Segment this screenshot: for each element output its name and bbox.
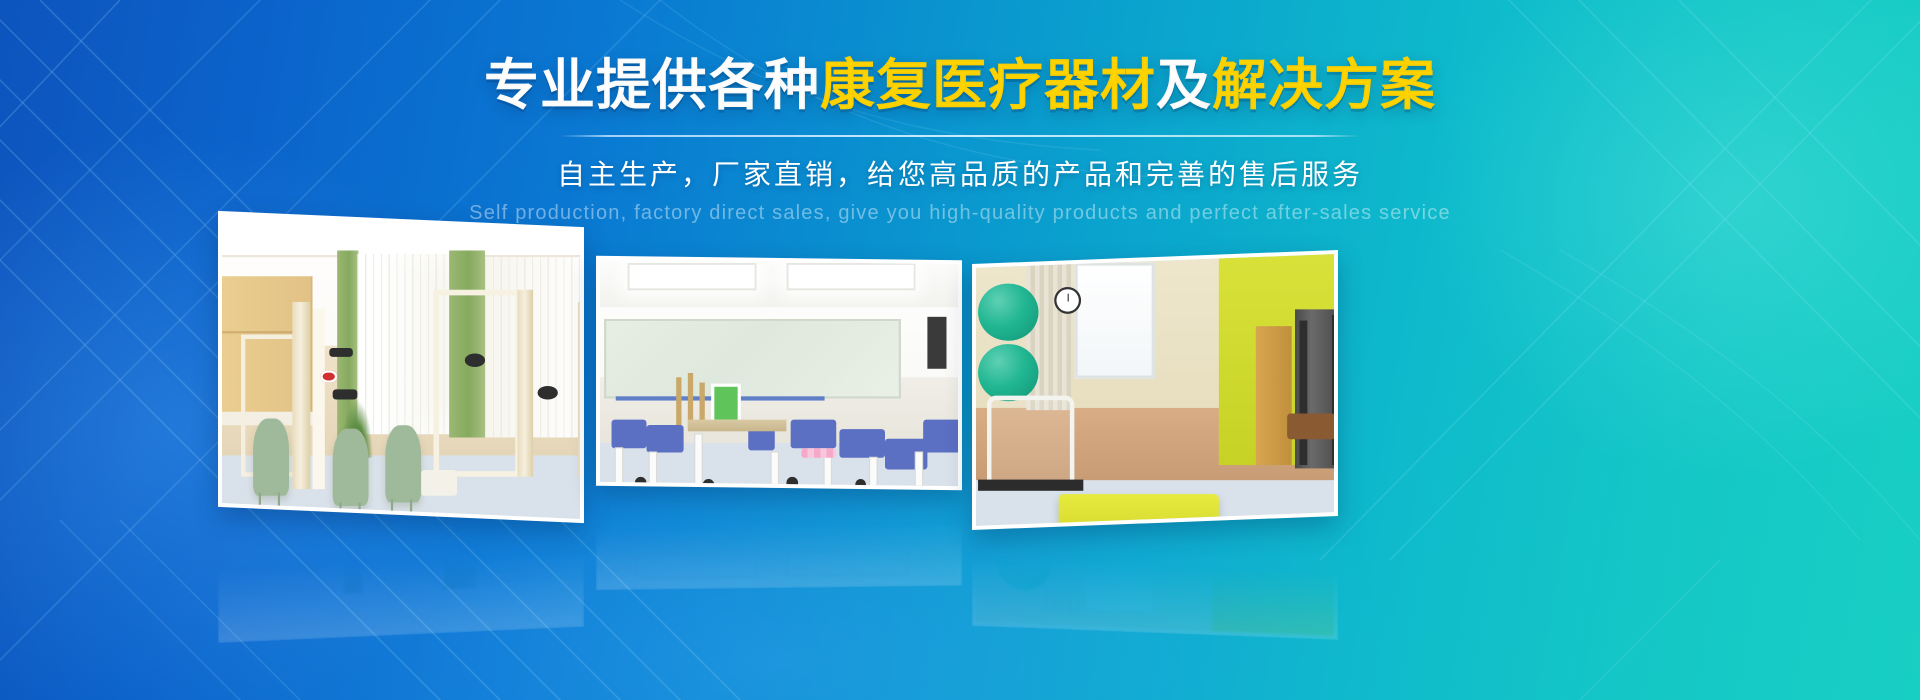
photo-3-scene: [976, 254, 1334, 526]
photo-2-frame: [600, 260, 958, 486]
headline-segment-4: 解决方案: [1212, 53, 1436, 117]
subtitle-english: Self production, factory direct sales, g…: [0, 202, 1920, 225]
headline-segment-2: 康复医疗器材: [820, 53, 1156, 117]
banner-text-block: 专业提供各种康复医疗器材及解决方案 自主生产，厂家直销，给您高品质的产品和完善的…: [0, 58, 1920, 225]
photo-reflection-2: [596, 486, 962, 590]
headline-segment-1: 专业提供各种: [484, 53, 820, 117]
headline-segment-3: 及: [1156, 53, 1212, 117]
photo-rehabilitation-training-room[interactable]: [218, 211, 584, 523]
headline: 专业提供各种康复医疗器材及解决方案: [0, 58, 1920, 113]
hero-banner: 专业提供各种康复医疗器材及解决方案 自主生产，厂家直销，给您高品质的产品和完善的…: [0, 0, 1920, 700]
photo-physiotherapy-room[interactable]: [972, 250, 1338, 530]
photo-1-frame: [222, 215, 580, 519]
photo-2-scene: [600, 260, 958, 486]
photo-reflection-1: [218, 507, 584, 643]
photo-rehabilitation-gym-hall[interactable]: [596, 256, 962, 490]
subtitle-chinese: 自主生产，厂家直销，给您高品质的产品和完善的售后服务: [0, 153, 1920, 193]
photo-reflection-3: [972, 516, 1338, 640]
photo-1-scene: [222, 215, 580, 519]
headline-divider: [560, 135, 1360, 137]
photo-3-frame: [976, 254, 1334, 526]
